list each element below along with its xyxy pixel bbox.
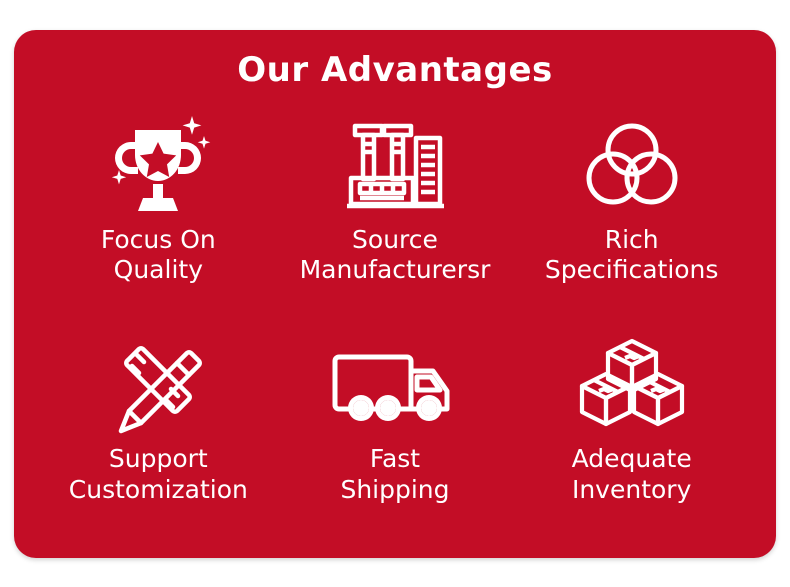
advantage-label: Fast Shipping <box>340 444 449 505</box>
factory-icon <box>336 105 454 223</box>
advantage-item-support-customization[interactable]: Support Customization <box>40 324 277 544</box>
delivery-truck-icon <box>325 324 465 442</box>
advantage-label: Focus On Quality <box>101 225 216 286</box>
trophy-icon <box>99 105 217 223</box>
venn-circles-icon <box>573 105 691 223</box>
advantage-label: Source Manufacturersr <box>300 225 491 286</box>
advantages-banner: Our Advantages <box>14 30 776 558</box>
pencil-ruler-icon <box>99 324 217 442</box>
advantage-item-source-manufacturer[interactable]: Source Manufacturersr <box>277 105 514 325</box>
stacked-boxes-icon <box>573 324 691 442</box>
advantage-label: Rich Specifications <box>545 225 719 286</box>
advantage-item-focus-on-quality[interactable]: Focus On Quality <box>40 105 277 325</box>
advantage-item-adequate-inventory[interactable]: Adequate Inventory <box>513 324 750 544</box>
advantage-item-rich-specifications[interactable]: Rich Specifications <box>513 105 750 325</box>
advantage-label: Support Customization <box>69 444 248 505</box>
advantages-grid: Focus On Quality <box>14 105 776 558</box>
advantage-label: Adequate Inventory <box>572 444 692 505</box>
advantage-item-fast-shipping[interactable]: Fast Shipping <box>277 324 514 544</box>
page-title: Our Advantages <box>237 50 553 91</box>
